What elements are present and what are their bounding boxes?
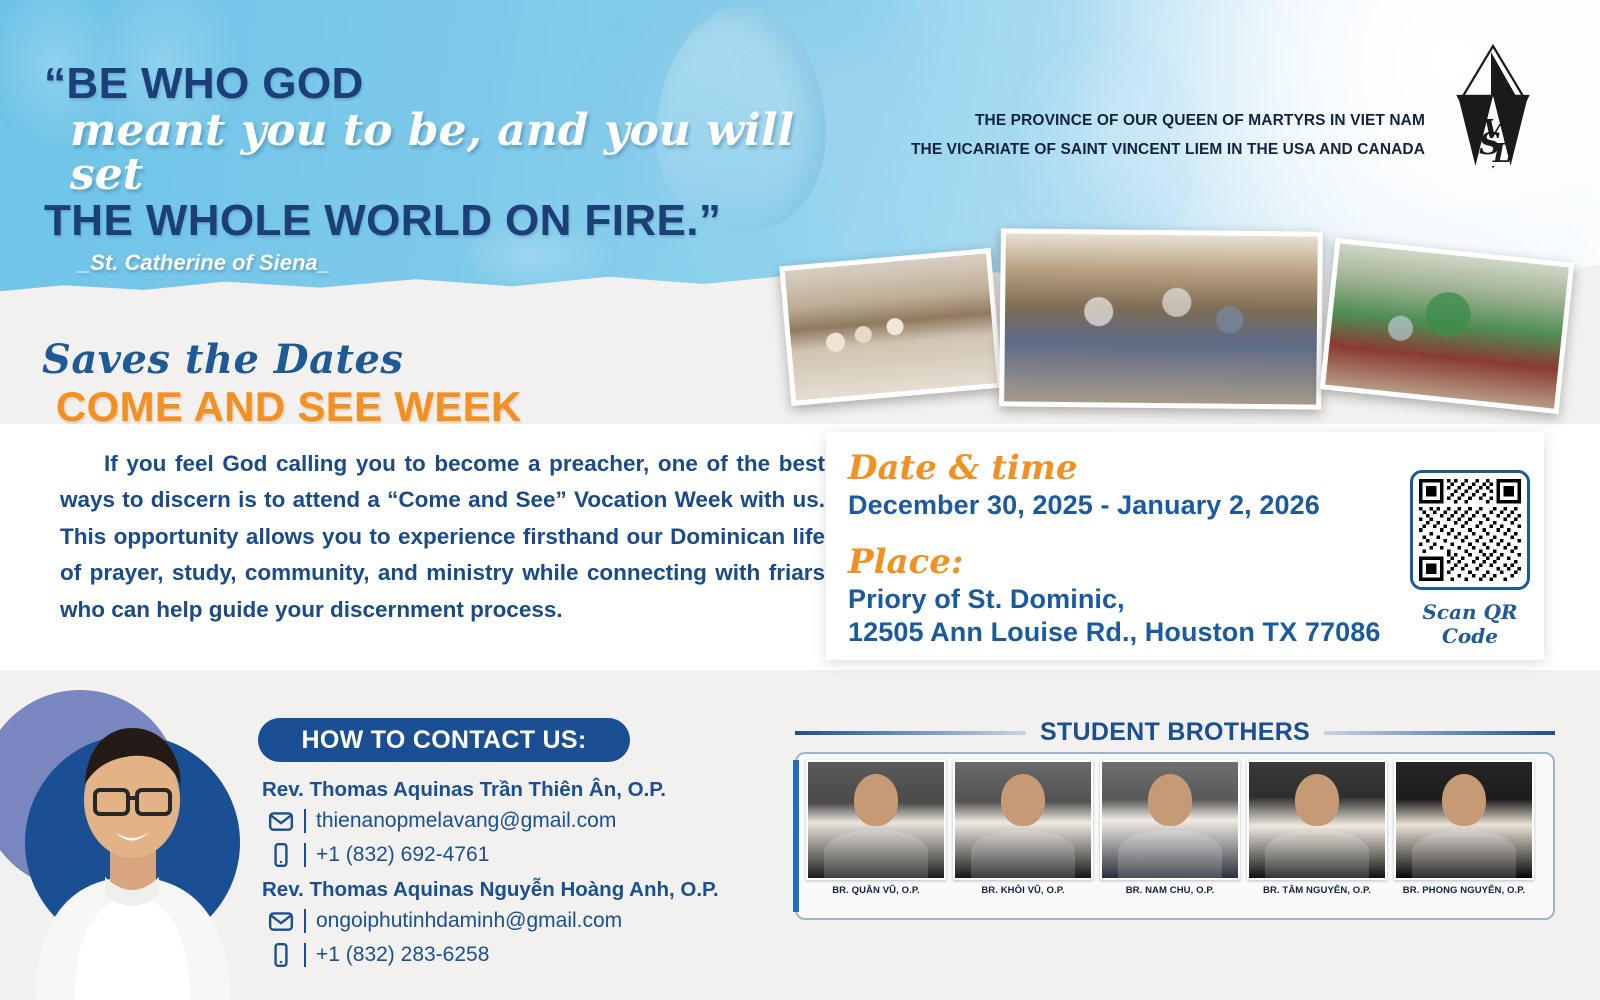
dominican-vsl-logo-icon: V S L [1428, 38, 1558, 188]
province-titles: THE PROVINCE OF OUR QUEEN OF MARTYRS IN … [911, 107, 1425, 164]
svg-text:L: L [1492, 139, 1511, 169]
student-brother-name: BR. NAM CHU, O.P. [1100, 885, 1240, 896]
event-title: COME AND SEE WEEK [56, 383, 522, 431]
quote-line-3: THE WHOLE WORLD ON FIRE.” [44, 199, 864, 244]
contact-phone-row[interactable]: +1 (832) 692-4761 [268, 842, 802, 868]
place-block: Place: Priory of St. Dominic, 12505 Ann … [848, 542, 1380, 648]
quote-author: _St. Catherine of Siena_ [78, 250, 864, 276]
event-description: If you feel God calling you to become a … [60, 446, 825, 628]
mobile-phone-icon [268, 942, 294, 968]
divider [304, 909, 306, 933]
contact-person-1: Rev. Thomas Aquinas Trần Thiên Ân, O.P. … [262, 778, 802, 868]
contact-name: Rev. Thomas Aquinas Trần Thiên Ân, O.P. [262, 778, 802, 802]
place-line-1: Priory of St. Dominic, [848, 584, 1380, 615]
contact-email-row[interactable]: ongoiphutinhdaminh@gmail.com [268, 908, 802, 934]
place-line-2: 12505 Ann Louise Rd., Houston TX 77086 [848, 617, 1380, 648]
student-brother-card[interactable]: BR. QUÂN VŨ, O.P. [806, 760, 946, 896]
student-brothers-title: STUDENT BROTHERS [1040, 718, 1310, 747]
student-brothers-row: BR. QUÂN VŨ, O.P. BR. KHÔI VŨ, O.P. BR. … [806, 760, 1548, 896]
student-brother-photo [1247, 760, 1387, 880]
contact-email[interactable]: ongoiphutinhdaminh@gmail.com [316, 909, 622, 933]
date-time-block: Date & time December 30, 2025 - January … [848, 448, 1320, 521]
saves-the-dates-label: Saves the Dates [42, 336, 403, 383]
mobile-phone-icon [268, 842, 294, 868]
student-brother-card[interactable]: BR. KHÔI VŨ, O.P. [953, 760, 1093, 896]
rule-right [1324, 731, 1555, 735]
date-time-label: Date & time [848, 448, 1320, 488]
contact-phone[interactable]: +1 (832) 283-6258 [316, 943, 489, 967]
student-brothers-header: STUDENT BROTHERS [795, 718, 1555, 747]
envelope-icon [268, 908, 294, 934]
collage-photo-group [999, 228, 1323, 409]
date-time-value: December 30, 2025 - January 2, 2026 [848, 490, 1320, 521]
contact-email-row[interactable]: thienanopmelavang@gmail.com [268, 808, 802, 834]
contact-phone-row[interactable]: +1 (832) 283-6258 [268, 942, 802, 968]
collage-photo-church [1320, 238, 1575, 414]
divider [304, 943, 306, 967]
contact-name: Rev. Thomas Aquinas Nguyễn Hoàng Anh, O.… [262, 878, 802, 902]
contact-heading: HOW TO CONTACT US: [258, 718, 630, 762]
rule-left [795, 731, 1026, 735]
divider [304, 809, 306, 833]
qr-code[interactable] [1410, 470, 1530, 590]
qr-code-caption: Scan QR Code [1405, 600, 1535, 648]
student-brother-card[interactable]: BR. TÂM NGUYỄN, O.P. [1247, 760, 1387, 896]
student-brother-photo [1394, 760, 1534, 880]
student-brother-name: BR. TÂM NGUYỄN, O.P. [1247, 885, 1387, 896]
envelope-icon [268, 808, 294, 834]
student-brother-photo [806, 760, 946, 880]
divider [304, 843, 306, 867]
student-brother-photo [1100, 760, 1240, 880]
student-brothers-accent-bar [793, 760, 799, 912]
student-brother-card[interactable]: BR. PHONG NGUYỄN, O.P. [1394, 760, 1534, 896]
collage-photo-chapel [779, 248, 1002, 406]
quote-line-2: meant you to be, and you will set [70, 109, 864, 197]
contact-email[interactable]: thienanopmelavang@gmail.com [316, 809, 616, 833]
province-line-1: THE PROVINCE OF OUR QUEEN OF MARTYRS IN … [911, 107, 1425, 136]
quote-line-1: “BE WHO GOD [44, 62, 864, 107]
hero-quote: “BE WHO GOD meant you to be, and you wil… [44, 62, 864, 276]
student-brother-name: BR. PHONG NGUYỄN, O.P. [1394, 885, 1534, 896]
student-brother-photo [953, 760, 1093, 880]
vocation-poster: “BE WHO GOD meant you to be, and you wil… [0, 0, 1600, 1000]
photo-collage [770, 222, 1580, 422]
student-brother-name: BR. KHÔI VŨ, O.P. [953, 885, 1093, 896]
student-brother-name: BR. QUÂN VŨ, O.P. [806, 885, 946, 896]
student-brother-card[interactable]: BR. NAM CHU, O.P. [1100, 760, 1240, 896]
place-label: Place: [848, 542, 1380, 582]
province-line-2: THE VICARIATE OF SAINT VINCENT LIEM IN T… [911, 136, 1425, 165]
contact-person-2: Rev. Thomas Aquinas Nguyễn Hoàng Anh, O.… [262, 878, 802, 968]
qr-code-image [1419, 479, 1521, 581]
contact-list: Rev. Thomas Aquinas Trần Thiên Ân, O.P. … [262, 778, 802, 976]
vocation-director-photo [15, 672, 250, 1000]
contact-phone[interactable]: +1 (832) 692-4761 [316, 843, 489, 867]
